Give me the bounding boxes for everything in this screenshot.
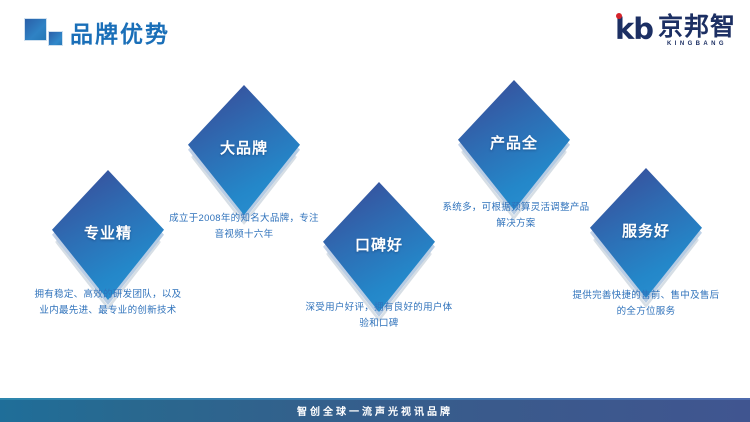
diamond-shape-2: 大品牌 (188, 85, 300, 217)
footer-top-accent-line (0, 398, 750, 400)
advantage-card-1[interactable]: 专业精 (52, 170, 164, 302)
diamond-shape-4: 产品全 (458, 80, 570, 212)
advantage-label-3: 口碑好 (355, 234, 403, 255)
logo-red-dot-icon (616, 13, 622, 19)
diamond-shape-3: 口碑好 (323, 182, 435, 314)
page-title: 品牌优势 (70, 15, 170, 49)
diamond-face-2: 大品牌 (188, 85, 300, 215)
advantage-description-3: 深受用户好评，拥有良好的用户体验和口碑 (304, 300, 454, 332)
diamond-face-3: 口碑好 (323, 182, 435, 312)
advantage-card-5[interactable]: 服务好 (590, 168, 702, 300)
diamond-face-1: 专业精 (52, 170, 164, 300)
advantage-label-5: 服务好 (622, 220, 670, 241)
slide-footer: 智创全球一流声光视讯品牌 (0, 398, 750, 422)
advantage-description-4: 系统多，可根据预算灵活调整产品解决方案 (441, 200, 591, 232)
decor-square-small-icon (48, 31, 63, 46)
diamond-shape-5: 服务好 (590, 168, 702, 300)
diamond-face-4: 产品全 (458, 80, 570, 210)
logo-english-name: KINGBANG (658, 41, 736, 47)
advantage-card-4[interactable]: 产品全 (458, 80, 570, 212)
advantage-description-1: 拥有稳定、高效的研发团队，以及业内最先进、最专业的创新技术 (33, 287, 183, 319)
logo-chinese-name: 京邦智 (658, 15, 736, 39)
advantage-label-1: 专业精 (84, 222, 132, 243)
advantage-label-2: 大品牌 (220, 137, 268, 158)
decor-square-large-icon (24, 18, 47, 41)
brand-logo: kb 京邦智 KINGBANG (615, 14, 736, 48)
advantage-label-4: 产品全 (490, 132, 538, 153)
advantage-description-2: 成立于2008年的知名大品牌，专注音视频十六年 (169, 211, 319, 243)
footer-slogan: 智创全球一流声光视讯品牌 (297, 403, 453, 418)
advantage-card-2[interactable]: 大品牌 (188, 85, 300, 217)
advantage-description-5: 提供完善快捷的售前、售中及售后的全方位服务 (571, 288, 721, 320)
slide-canvas: 品牌优势 kb 京邦智 KINGBANG 专业精 拥有稳定、高效的研发团队，以及… (0, 0, 750, 422)
diamond-face-5: 服务好 (590, 168, 702, 298)
advantage-card-3[interactable]: 口碑好 (323, 182, 435, 314)
logo-text-group: 京邦智 KINGBANG (658, 14, 736, 47)
diamond-shape-1: 专业精 (52, 170, 164, 302)
